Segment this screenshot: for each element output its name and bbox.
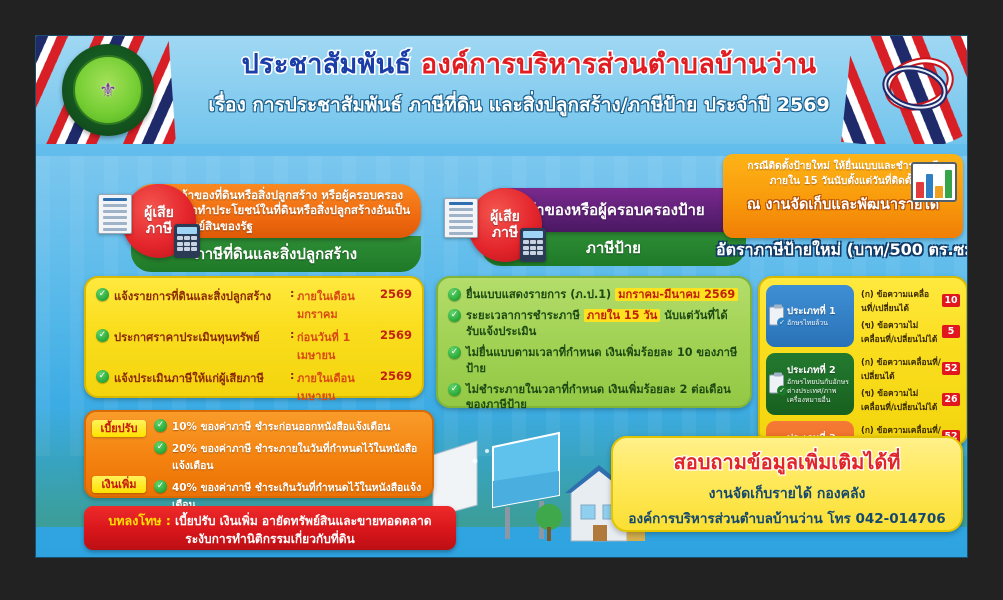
check-icon: ✓	[96, 329, 109, 342]
calculator-icon-sign	[520, 228, 546, 262]
list-item: ✓ 10% ของค่าภาษี ชำระก่อนออกหนังสือแจ้งเ…	[154, 418, 424, 435]
list-item: ✓ ไม่ยื่นแบบตามเวลาที่กำหนด เงินเพิ่มร้อ…	[448, 345, 740, 377]
taxpayer-badge-sign-line1: ผู้เสีย	[490, 209, 520, 225]
rate-line-value: 26	[942, 393, 960, 406]
rate-type-1-name: ประเภทที่ 1	[787, 304, 850, 319]
ribbon-ring-logo-icon	[873, 48, 959, 126]
punishment-line1: บทลงโทษ : เบี้ยปรับ เงินเพิ่ม อายัดทรัพย…	[92, 510, 448, 531]
poster: ⚜ ประชาสัมพันธ์ องค์การบริหารส่วนตำบลบ้า…	[35, 35, 968, 558]
page-title-part-b: องค์การบริหารส่วนตำบลบ้านว่าน	[421, 49, 817, 80]
check-icon: ✓	[154, 441, 167, 454]
poster-header: ⚜ ประชาสัมพันธ์ องค์การบริหารส่วนตำบลบ้า…	[36, 36, 968, 144]
contact-department: งานจัดเก็บรายได้ กองคลัง	[623, 483, 951, 505]
land-row-colon: :	[290, 287, 297, 300]
page-title-part-a: ประชาสัมพันธ์	[242, 49, 421, 80]
land-row-label: แจ้งรายการที่ดินและสิ่งปลูกสร้าง	[114, 287, 290, 305]
sign-rules-panel: ✓ ยื่นแบบแสดงรายการ (ภ.ป.1) มกราคม-มีนาค…	[436, 276, 752, 408]
land-row-year: 2569	[378, 369, 412, 383]
check-icon: ✓	[448, 288, 461, 301]
taxpayer-description-land-text: เจ้าของที่ดินหรือสิ่งปลูกสร้าง หรือผู้คร…	[177, 188, 411, 234]
rate-line-text: (ก) ข้อความเคลื่อนที่/เปลี่ยนได้	[861, 355, 942, 383]
penalty-item-text: 20% ของค่าภาษี ชำระภายในวันที่กำหนดไว้ใน…	[172, 440, 424, 474]
check-icon: ✓	[154, 480, 167, 493]
check-icon: ✓	[96, 288, 109, 301]
punishment-banner: บทลงโทษ : เบี้ยปรับ เงินเพิ่ม อายัดทรัพย…	[84, 506, 456, 550]
logo-seal-icon: ⚜	[73, 55, 143, 125]
table-row: ประเภทที่ 1 อักษรไทยล้วน (ก) ข้อความแคลื…	[766, 285, 960, 347]
document-icon-sign	[444, 198, 478, 238]
table-row: ✓ แจ้งประเมินภาษีให้แก่ผู้เสียภาษี : ภาย…	[96, 369, 412, 405]
taxpayer-description-sign-text: เจ้าของหรือผู้ครอบครองป้าย	[522, 198, 704, 222]
clipboard-check-icon	[769, 375, 784, 394]
bar-chart-icon	[911, 162, 957, 202]
land-row-when: ภายในเดือน เมษายน	[297, 369, 378, 405]
rate-line: (ก) ข้อความเคลื่อนที่/เปลี่ยนได้ 52	[861, 355, 960, 383]
contact-organization-phone: องค์การบริหารส่วนตำบลบ้านว่าน โทร 042-01…	[623, 507, 951, 529]
check-icon: ✓	[448, 309, 461, 322]
rate-type-2-items: (ก) ข้อความเคลื่อนที่/เปลี่ยนได้ 52 (ข) …	[854, 353, 960, 415]
sign-rule-text: ไม่ชำระภายในเวลาที่กำหนด เงินเพิ่มร้อยละ…	[466, 382, 740, 414]
rate-line: (ก) ข้อความแคลื่อนที่/เปลี่ยนได้ 10	[861, 287, 960, 315]
page-title: ประชาสัมพันธ์ องค์การบริหารส่วนตำบลบ้านว…	[184, 50, 874, 80]
rate-line: (ข) ข้อความไม่เคลื่อนที่/เปลี่ยนไม่ได้ 5	[861, 318, 960, 346]
taxpayer-badge-land-line1: ผู้เสีย	[144, 205, 174, 221]
rate-type-1-tag: ประเภทที่ 1 อักษรไทยล้วน	[766, 285, 854, 347]
check-icon: ✓	[448, 346, 461, 359]
table-row: ประเภทที่ 2 อักษรไทยปนกับอักษรต่างประเทศ…	[766, 353, 960, 415]
punishment-text-2: ระงับการทำนิติกรรมเกี่ยวกับที่ดิน	[92, 531, 448, 548]
rate-line-text: (ข) ข้อความไม่เคลื่อนที่/เปลี่ยนไม่ได้	[861, 386, 942, 414]
check-icon: ✓	[96, 370, 109, 383]
penalty-panel: เบี้ยปรับ เงินเพิ่ม ✓ 10% ของค่าภาษี ชำร…	[84, 410, 434, 498]
sign-rule-pre: ยื่นแบบแสดงรายการ (ภ.ป.1)	[466, 288, 615, 301]
check-icon: ✓	[448, 383, 461, 396]
punishment-text-1: เบี้ยปรับ เงินเพิ่ม อายัดทรัพย์สินและขาย…	[171, 514, 432, 528]
contact-panel: สอบถามข้อมูลเพิ่มเติมได้ที่ งานจัดเก็บรา…	[611, 436, 963, 532]
taxpayer-badge-land-line2: ภาษี	[146, 221, 172, 237]
penalty-fine-tag: เบี้ยปรับ	[92, 420, 146, 437]
table-row: ✓ แจ้งรายการที่ดินและสิ่งปลูกสร้าง : ภาย…	[96, 287, 412, 323]
organization-logo: ⚜	[62, 44, 154, 136]
sign-rule-highlight: มกราคม-มีนาคม 2569	[615, 288, 738, 301]
check-icon: ✓	[154, 419, 167, 432]
page-subtitle: เรื่อง การประชาสัมพันธ์ ภาษีที่ดิน และสิ…	[164, 90, 874, 120]
punishment-tag: บทลงโทษ :	[108, 513, 170, 528]
rate-type-2-desc: อักษรไทยปนกับอักษรต่างประเทศ/ภาพเครื่องห…	[787, 378, 850, 404]
penalty-extra-tag: เงินเพิ่ม	[92, 476, 146, 493]
rate-line-value: 10	[942, 294, 960, 307]
land-row-colon: :	[290, 328, 297, 341]
land-row-year: 2569	[378, 328, 412, 342]
land-row-when: ภายในเดือน มกราคม	[297, 287, 378, 323]
document-icon-land	[98, 194, 132, 234]
calculator-icon-land	[174, 224, 200, 258]
list-item: ✓ ระยะเวลาการชำระภาษี ภายใน 15 วัน นับแต…	[448, 308, 740, 340]
table-row: ✓ ประกาศราคาประเมินทุนทรัพย์ : ก่อนวันที…	[96, 328, 412, 364]
list-item: ✓ ยื่นแบบแสดงรายการ (ภ.ป.1) มกราคม-มีนาค…	[448, 287, 740, 303]
sign-rule-text: ไม่ยื่นแบบตามเวลาที่กำหนด เงินเพิ่มร้อยล…	[466, 345, 740, 377]
rate-line-text: (ข) ข้อความไม่เคลื่อนที่/เปลี่ยนไม่ได้	[861, 318, 942, 346]
clipboard-check-icon	[769, 307, 784, 326]
sign-rule-pre: ระยะเวลาการชำระภาษี	[466, 309, 584, 322]
rate-line-value: 5	[942, 325, 960, 338]
contact-title: สอบถามข้อมูลเพิ่มเติมได้ที่	[623, 446, 951, 478]
taxpayer-badge-sign-line2: ภาษี	[492, 225, 518, 241]
penalty-item-text: 10% ของค่าภาษี ชำระก่อนออกหนังสือแจ้งเตื…	[172, 418, 390, 435]
rate-line-value: 52	[942, 362, 960, 375]
logo-emblem-icon: ⚜	[99, 79, 117, 101]
rate-line: (ข) ข้อความไม่เคลื่อนที่/เปลี่ยนไม่ได้ 2…	[861, 386, 960, 414]
sign-rule-text: ระยะเวลาการชำระภาษี ภายใน 15 วัน นับแต่ว…	[466, 308, 740, 340]
sign-rule-highlight: ภายใน 15 วัน	[584, 309, 661, 322]
rate-type-1-desc: อักษรไทยล้วน	[787, 319, 850, 328]
sign-rule-text: ยื่นแบบแสดงรายการ (ภ.ป.1) มกราคม-มีนาคม …	[466, 287, 738, 303]
screenshot-canvas: ⚜ ประชาสัมพันธ์ องค์การบริหารส่วนตำบลบ้า…	[0, 0, 1003, 600]
rate-type-2-tag: ประเภทที่ 2 อักษรไทยปนกับอักษรต่างประเทศ…	[766, 353, 854, 415]
rate-line-text: (ก) ข้อความแคลื่อนที่/เปลี่ยนได้	[861, 287, 942, 315]
list-item: ✓ ไม่ชำระภายในเวลาที่กำหนด เงินเพิ่มร้อย…	[448, 382, 740, 414]
service-hours-text: เปิดบริการทุกวันจันทร์-วันศุกร์ เวลา 08.…	[36, 557, 968, 558]
land-row-colon: :	[290, 369, 297, 382]
land-row-label: ประกาศราคาประเมินทุนทรัพย์	[114, 328, 290, 346]
rate-type-2-name: ประเภทที่ 2	[787, 363, 850, 378]
land-row-year: 2569	[378, 287, 412, 301]
sign-rate-table: ประเภทที่ 1 อักษรไทยล้วน (ก) ข้อความแคลื…	[758, 276, 968, 446]
list-item: ✓ 20% ของค่าภาษี ชำระภายในวันที่กำหนดไว้…	[154, 440, 424, 474]
rate-table-title: อัตราภาษีป้ายใหม่ (บาท/500 ตร.ซม.)	[716, 238, 968, 263]
land-row-when: ก่อนวันที่ 1 เมษายน	[297, 328, 378, 364]
land-schedule-panel: ✓ แจ้งรายการที่ดินและสิ่งปลูกสร้าง : ภาย…	[84, 276, 424, 398]
land-row-label: แจ้งประเมินภาษีให้แก่ผู้เสียภาษี	[114, 369, 290, 387]
rate-type-1-items: (ก) ข้อความแคลื่อนที่/เปลี่ยนได้ 10 (ข) …	[854, 285, 960, 347]
